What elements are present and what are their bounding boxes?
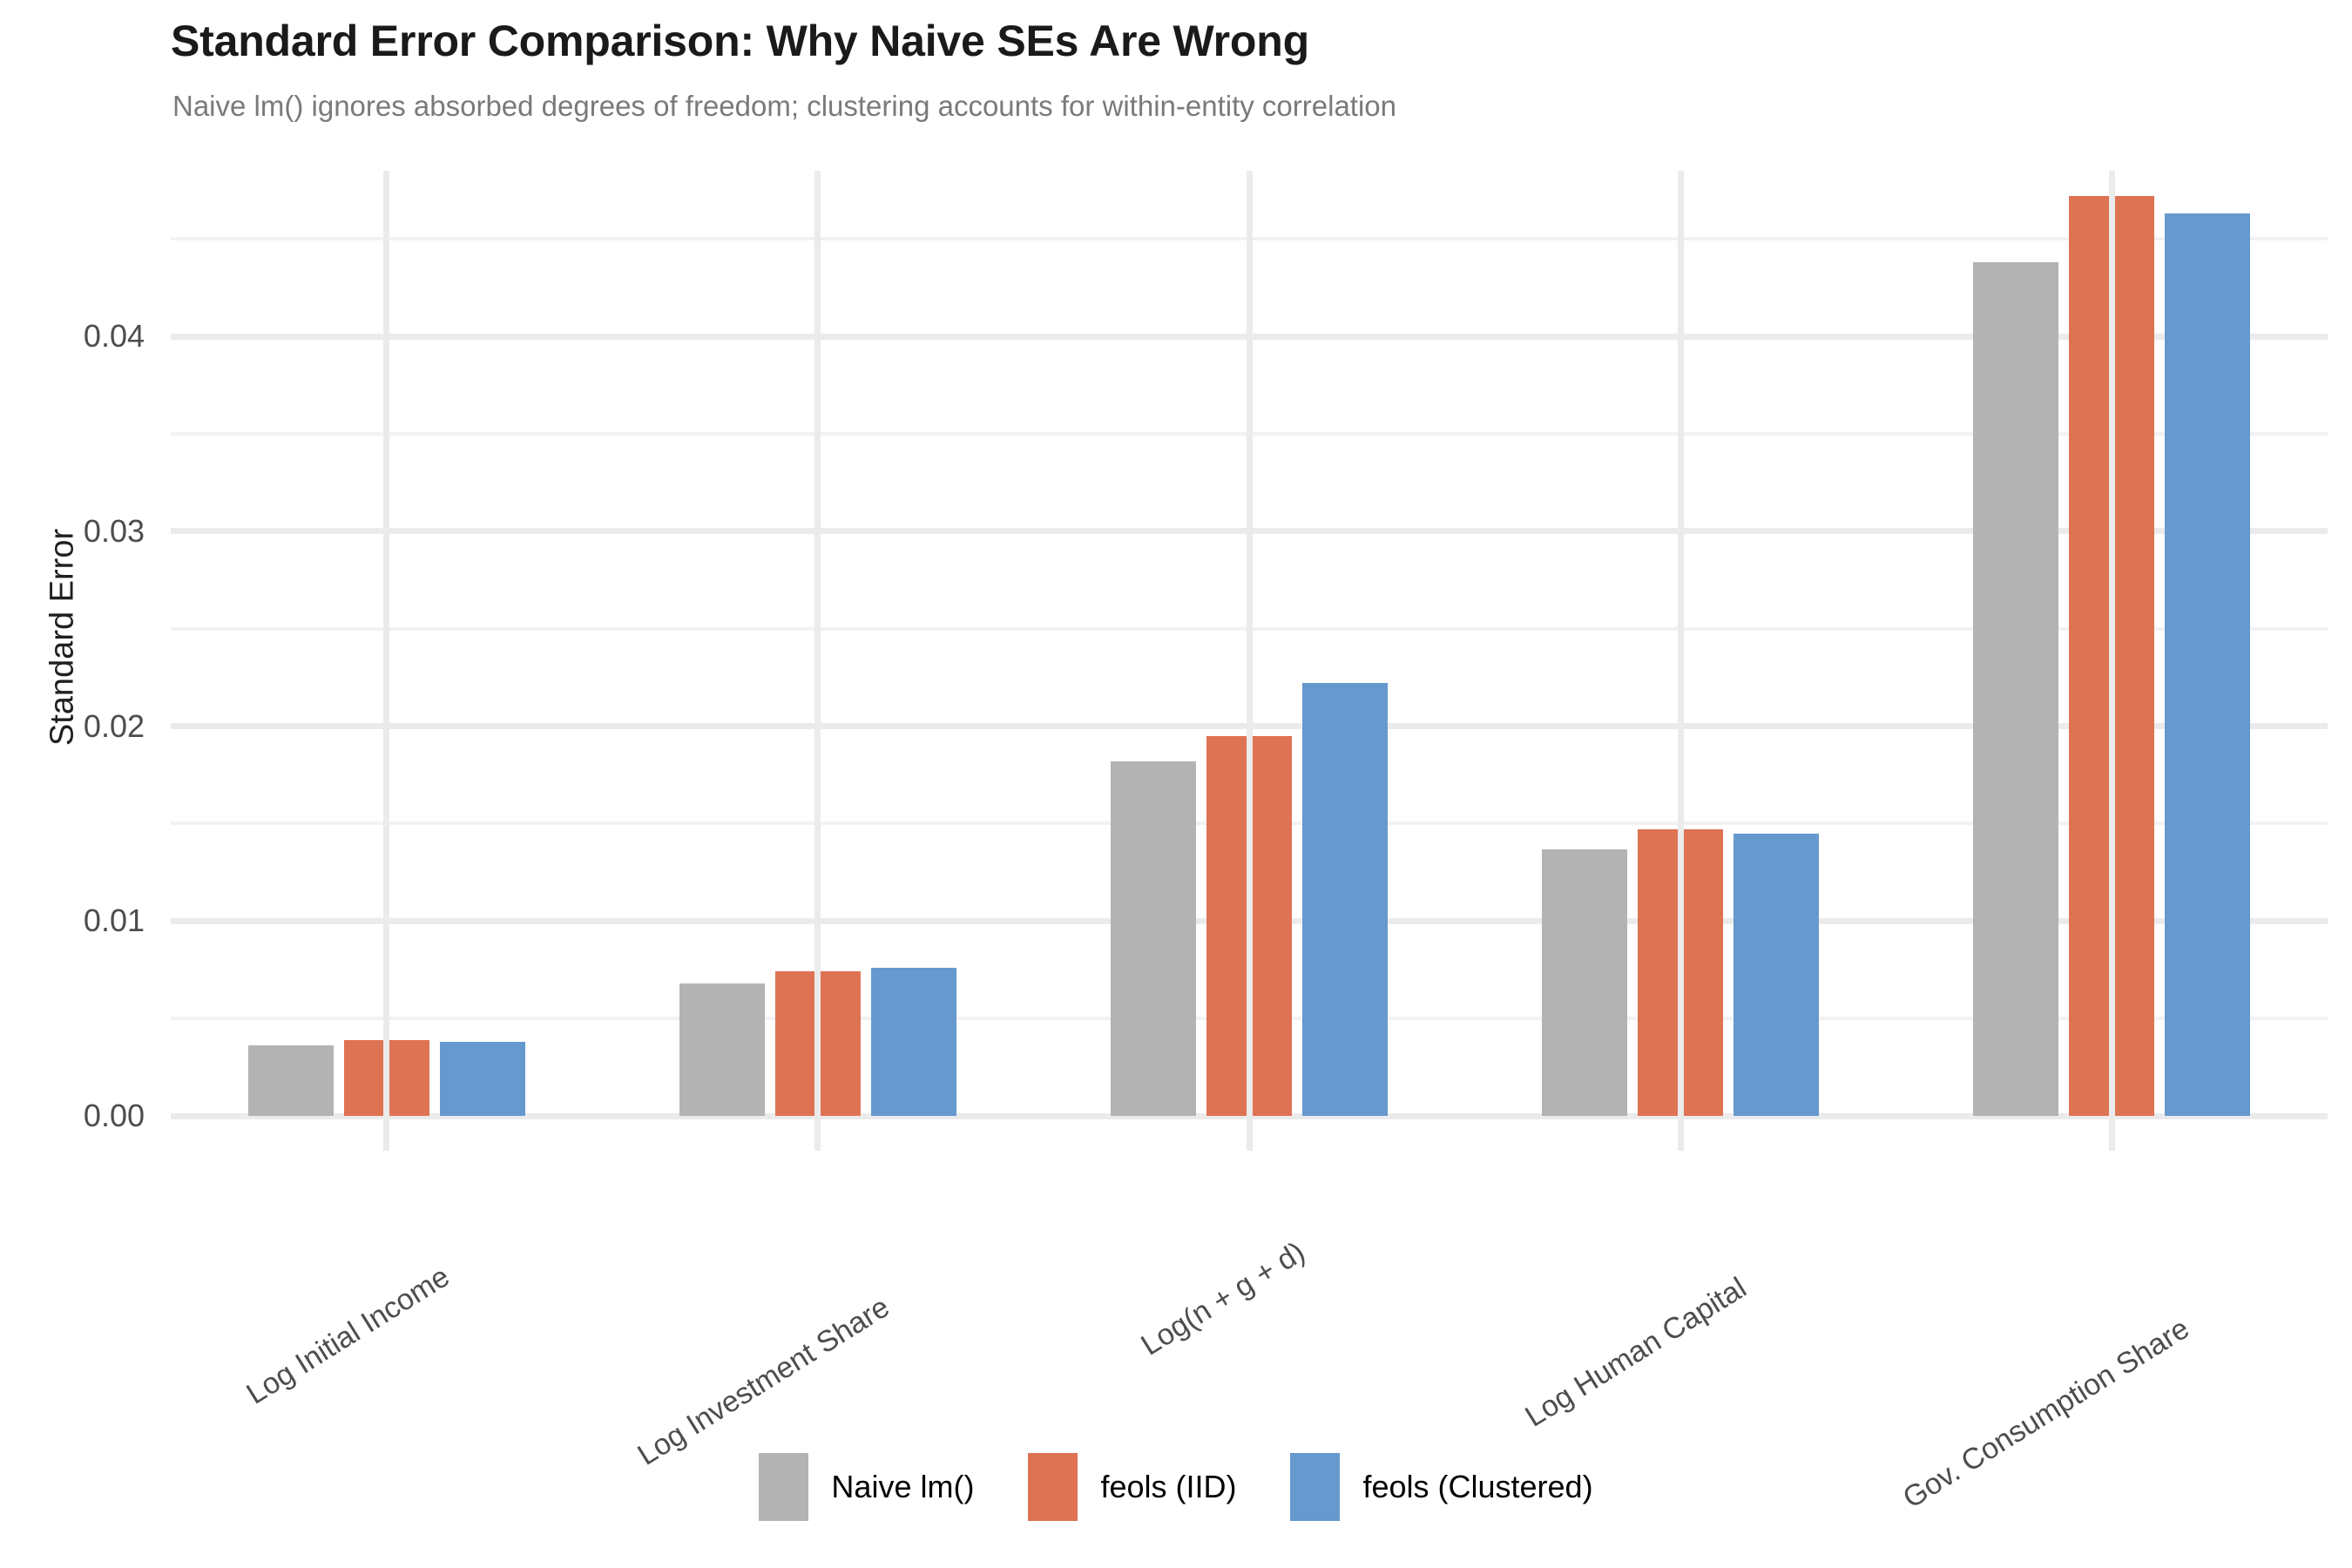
legend-swatch-icon: [1028, 1453, 1078, 1521]
y-axis-tick-label: 0.04: [0, 318, 145, 355]
chart-subtitle: Naive lm() ignores absorbed degrees of f…: [172, 90, 1396, 123]
y-axis-tick-label: 0.01: [0, 902, 145, 939]
bar: [1638, 829, 1723, 1116]
x-axis-tick-label: Log Initial Income: [437, 1137, 652, 1288]
x-axis-tick-label: Log Human Capital: [1734, 1137, 1968, 1300]
gridline-minor: [171, 237, 2328, 240]
x-axis-tick-label: Log(n + g + d): [1293, 1137, 1469, 1264]
x-axis-tick-label: Gov. Consumption Share: [2178, 1137, 2352, 1341]
bar: [1206, 736, 1292, 1116]
bar: [2069, 196, 2154, 1116]
page-title: Standard Error Comparison: Why Naive SEs…: [171, 16, 1309, 66]
legend-item[interactable]: feols (Clustered): [1290, 1453, 1592, 1521]
bar: [775, 971, 861, 1116]
bar: [1542, 849, 1627, 1116]
bar: [679, 983, 765, 1116]
bar: [1973, 262, 2058, 1116]
y-axis-tick-label: 0.03: [0, 513, 145, 550]
bar: [440, 1042, 525, 1116]
legend-swatch-icon: [1290, 1453, 1340, 1521]
bar: [1111, 761, 1196, 1116]
x-axis-tick-label-text: Log Initial Income: [240, 1260, 456, 1411]
plot-area: [171, 171, 2328, 1116]
bar: [2165, 213, 2250, 1116]
legend-item-label: feols (IID): [1100, 1469, 1236, 1505]
bar: [248, 1045, 334, 1116]
bar: [344, 1040, 429, 1116]
x-axis-tick-label: Log Investment Share: [877, 1137, 1141, 1319]
legend-item-label: Naive lm(): [831, 1469, 974, 1505]
x-axis-tick-label-text: Log Human Capital: [1520, 1271, 1754, 1434]
legend-item[interactable]: feols (IID): [1028, 1453, 1290, 1521]
bar: [1302, 683, 1388, 1116]
y-axis-tick-label: 0.02: [0, 708, 145, 745]
chart-root: Standard Error Comparison: Why Naive SEs…: [0, 0, 2352, 1568]
legend-item-label: feols (Clustered): [1362, 1469, 1592, 1505]
x-axis-tick-label-text: Log Investment Share: [632, 1290, 896, 1472]
bar: [871, 968, 956, 1116]
y-axis-tick-label: 0.00: [0, 1098, 145, 1134]
legend-swatch-icon: [759, 1453, 808, 1521]
bar: [1734, 834, 1819, 1116]
x-axis-tick-label-text: Log(n + g + d): [1135, 1235, 1311, 1362]
legend-item[interactable]: Naive lm(): [759, 1453, 1028, 1521]
legend: Naive lm()feols (IID)feols (Clustered): [0, 1453, 2352, 1521]
